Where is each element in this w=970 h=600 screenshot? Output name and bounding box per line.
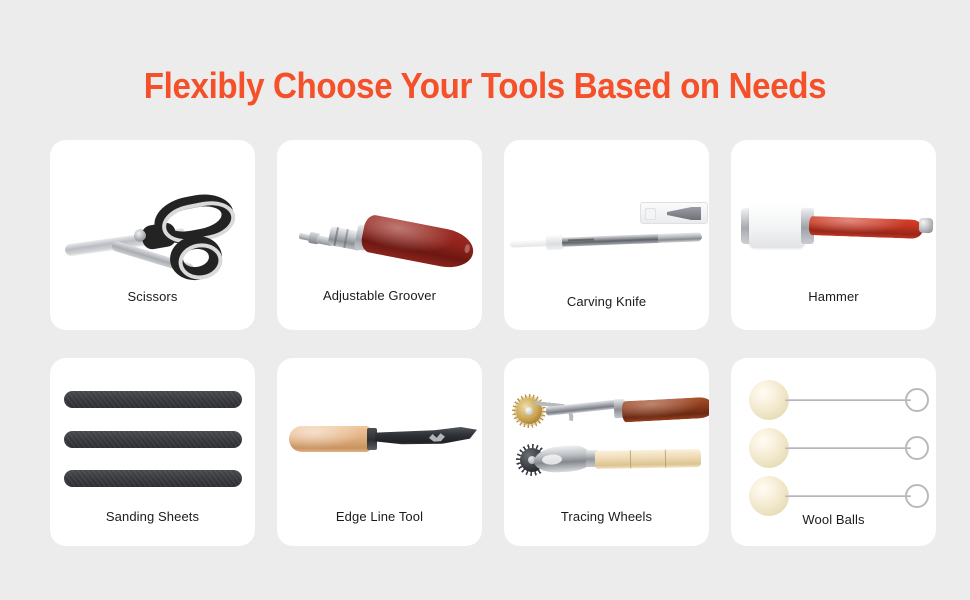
wool-ball: [749, 428, 789, 468]
wool-ball-wire: [785, 399, 911, 401]
wool-ball-loop-handle: [905, 436, 929, 460]
tool-card-sanding-sheets[interactable]: Sanding Sheets: [50, 358, 255, 546]
tool-card-tracing-wheels[interactable]: Tracing Wheels: [504, 358, 709, 546]
wool-ball: [749, 380, 789, 420]
scissors-pivot-screw: [135, 230, 146, 241]
sanding-sheet-strip: [64, 470, 242, 487]
edge-line-wood-handle: [289, 426, 371, 452]
tool-card-hammer[interactable]: Hammer: [731, 140, 936, 330]
tool-card-carving-knife[interactable]: Carving Knife: [504, 140, 709, 330]
carving-knife-tail: [658, 232, 702, 243]
tracing-wheel-wood-handle-tool: [518, 442, 708, 476]
tool-card-scissors[interactable]: Scissors: [50, 140, 255, 330]
sanding-sheet-strip: [64, 391, 242, 408]
hammer-wood-handle: [809, 216, 924, 239]
groover-wood-handle: [359, 213, 476, 272]
tool-card-grid: Scissors Adjustable Groover: [50, 140, 935, 546]
hammer-end-cap: [919, 218, 934, 233]
tracing-wheel-shank: [546, 399, 623, 416]
blade-package-tab: [645, 208, 656, 220]
hammer-nylon-head: [749, 204, 805, 248]
wool-ball-loop-handle: [905, 388, 929, 412]
edge-line-curved-blade: [375, 427, 477, 447]
tool-card-adjustable-groover[interactable]: Adjustable Groover: [277, 140, 482, 330]
tool-card-label: Sanding Sheets: [50, 509, 255, 525]
carving-knife-blade-package: [640, 202, 708, 224]
wool-ball-wire: [785, 447, 911, 449]
tool-card-label: Carving Knife: [504, 294, 709, 310]
sanding-sheet-strip: [64, 431, 242, 448]
tracing-wheel-red-handle-tool: [516, 394, 702, 426]
carving-knife-grip-shaft: [562, 234, 662, 247]
tool-card-label: Edge Line Tool: [277, 509, 482, 525]
tracing-wheel-red-wood-handle: [622, 397, 709, 423]
page-title: Flexibly Choose Your Tools Based on Need…: [39, 64, 931, 108]
carving-knife-body: [510, 232, 700, 248]
tool-card-label: Adjustable Groover: [277, 288, 482, 304]
tool-card-label: Scissors: [50, 289, 255, 305]
tool-card-label: Wool Balls: [731, 512, 936, 528]
tracing-wheel-light-wood-handle: [595, 449, 701, 469]
wool-ball-wire: [785, 495, 911, 497]
tool-card-label: Tracing Wheels: [504, 509, 709, 525]
tool-card-edge-line-tool[interactable]: Edge Line Tool: [277, 358, 482, 546]
tool-card-label: Hammer: [731, 289, 936, 305]
tool-card-wool-balls[interactable]: Wool Balls: [731, 358, 936, 546]
spare-blade: [667, 207, 701, 220]
wool-ball: [749, 476, 789, 516]
wool-ball-loop-handle: [905, 484, 929, 508]
